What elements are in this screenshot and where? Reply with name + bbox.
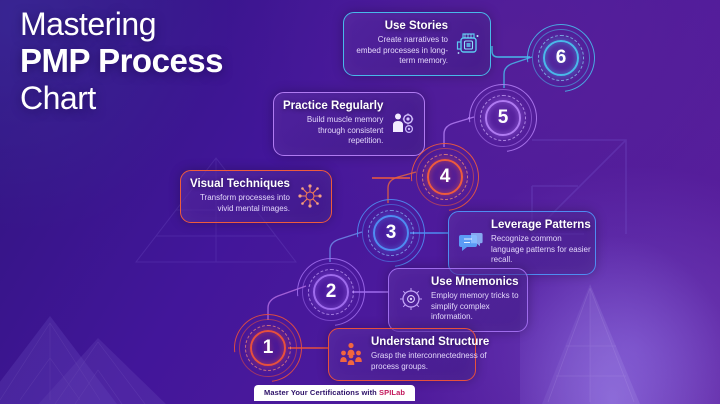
step-card-5[interactable]: Practice Regularly Build muscle memory t…	[273, 92, 425, 156]
people-group-icon	[338, 341, 364, 367]
footer-text: Master Your Certifications with	[264, 388, 379, 397]
story-robot-icon	[455, 30, 481, 56]
person-gear-icon	[390, 110, 416, 136]
step-node-2[interactable]: 2	[302, 263, 360, 321]
step-card-4[interactable]: Visual Techniques Transform processes in…	[180, 170, 332, 223]
step-node-5[interactable]: 5	[474, 89, 532, 147]
step-card-description: Employ memory tricks to simplify complex…	[431, 291, 519, 323]
step-card-title: Leverage Patterns	[491, 219, 591, 232]
brain-gear-icon	[398, 286, 424, 312]
step-card-2[interactable]: Use Mnemonics Employ memory tricks to si…	[388, 268, 528, 332]
step-card-description: Grasp the interconnectedness of process …	[371, 351, 489, 372]
footer-banner: Master Your Certifications with SPILab	[254, 385, 415, 401]
step-card-title: Understand Structure	[371, 336, 489, 349]
footer-brand: SPILab	[379, 388, 405, 397]
step-node-3[interactable]: 3	[362, 204, 420, 262]
step-card-title: Visual Techniques	[190, 178, 290, 191]
infographic-canvas: Mastering PMP Process Chart 6	[0, 0, 720, 404]
step-card-3[interactable]: Leverage Patterns Recognize common langu…	[448, 211, 596, 275]
step-card-title: Use Stories	[353, 20, 448, 33]
step-card-description: Recognize common language patterns for e…	[491, 234, 591, 266]
step-card-description: Transform processes into vivid mental im…	[190, 193, 290, 214]
step-node-4[interactable]: 4	[416, 148, 474, 206]
step-number: 4	[416, 148, 474, 206]
step-number: 5	[474, 89, 532, 147]
step-card-1[interactable]: Understand Structure Grasp the interconn…	[328, 328, 476, 381]
step-card-title: Practice Regularly	[283, 100, 383, 113]
step-node-6[interactable]: 6	[532, 29, 590, 87]
network-nodes-icon	[297, 183, 323, 209]
step-node-1[interactable]: 1	[239, 319, 297, 377]
step-card-title: Use Mnemonics	[431, 276, 519, 289]
step-number: 3	[362, 204, 420, 262]
step-card-description: Build muscle memory through consistent r…	[283, 115, 383, 147]
step-number: 2	[302, 263, 360, 321]
step-number: 6	[532, 29, 590, 87]
step-card-6[interactable]: Use Stories Create narratives to embed p…	[343, 12, 491, 76]
step-number: 1	[239, 319, 297, 377]
speech-bubble-icon	[458, 229, 484, 255]
step-card-description: Create narratives to embed processes in …	[353, 35, 448, 67]
